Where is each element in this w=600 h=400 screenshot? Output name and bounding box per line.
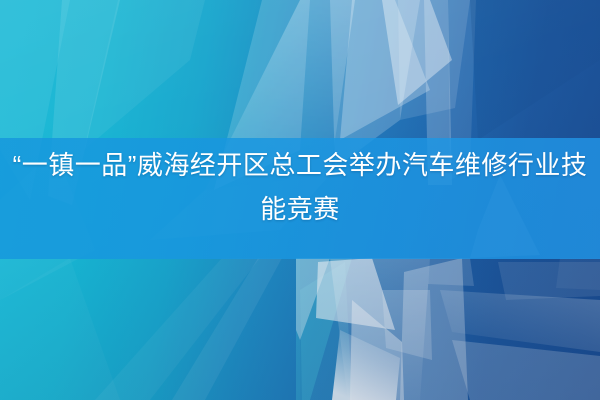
facet-lower-left-wedge <box>95 258 260 400</box>
facet-lr-chevron-2 <box>382 290 432 360</box>
facet-lower-left-1 <box>0 258 120 400</box>
facet-lr-teal-2 <box>300 262 352 400</box>
facet-lr-backdrop <box>300 258 600 400</box>
headline-text: “一镇一品”威海经开区总工会举办汽车维修行业技能竞赛 <box>0 143 600 231</box>
facet-lr-tealblock <box>296 258 352 400</box>
facet-lr-glow <box>316 258 395 330</box>
facet-lr-panel-1 <box>330 258 430 400</box>
facet-center-spire-5 <box>398 0 470 120</box>
facet-lr-blade <box>440 290 600 352</box>
facet-center-spire-4 <box>340 0 430 140</box>
facet-upper-left-3 <box>84 0 205 150</box>
facet-lr-blade-2 <box>452 340 600 400</box>
facet-right-shard-3 <box>470 0 600 140</box>
facet-center-bright <box>382 0 452 105</box>
facet-lr-chevron <box>350 300 404 400</box>
facet-lr-small-1 <box>428 258 474 286</box>
facet-lr-small-2 <box>556 258 600 290</box>
facet-lr-panel-2 <box>400 258 468 400</box>
facet-lower-left-slim <box>172 258 282 400</box>
facet-lr-bright-core <box>332 330 400 400</box>
facet-lr-edge-left <box>296 258 330 340</box>
facet-lr-blade-3 <box>498 262 600 300</box>
banner-image: “一镇一品”威海经开区总工会举办汽车维修行业技能竞赛 <box>0 0 600 400</box>
